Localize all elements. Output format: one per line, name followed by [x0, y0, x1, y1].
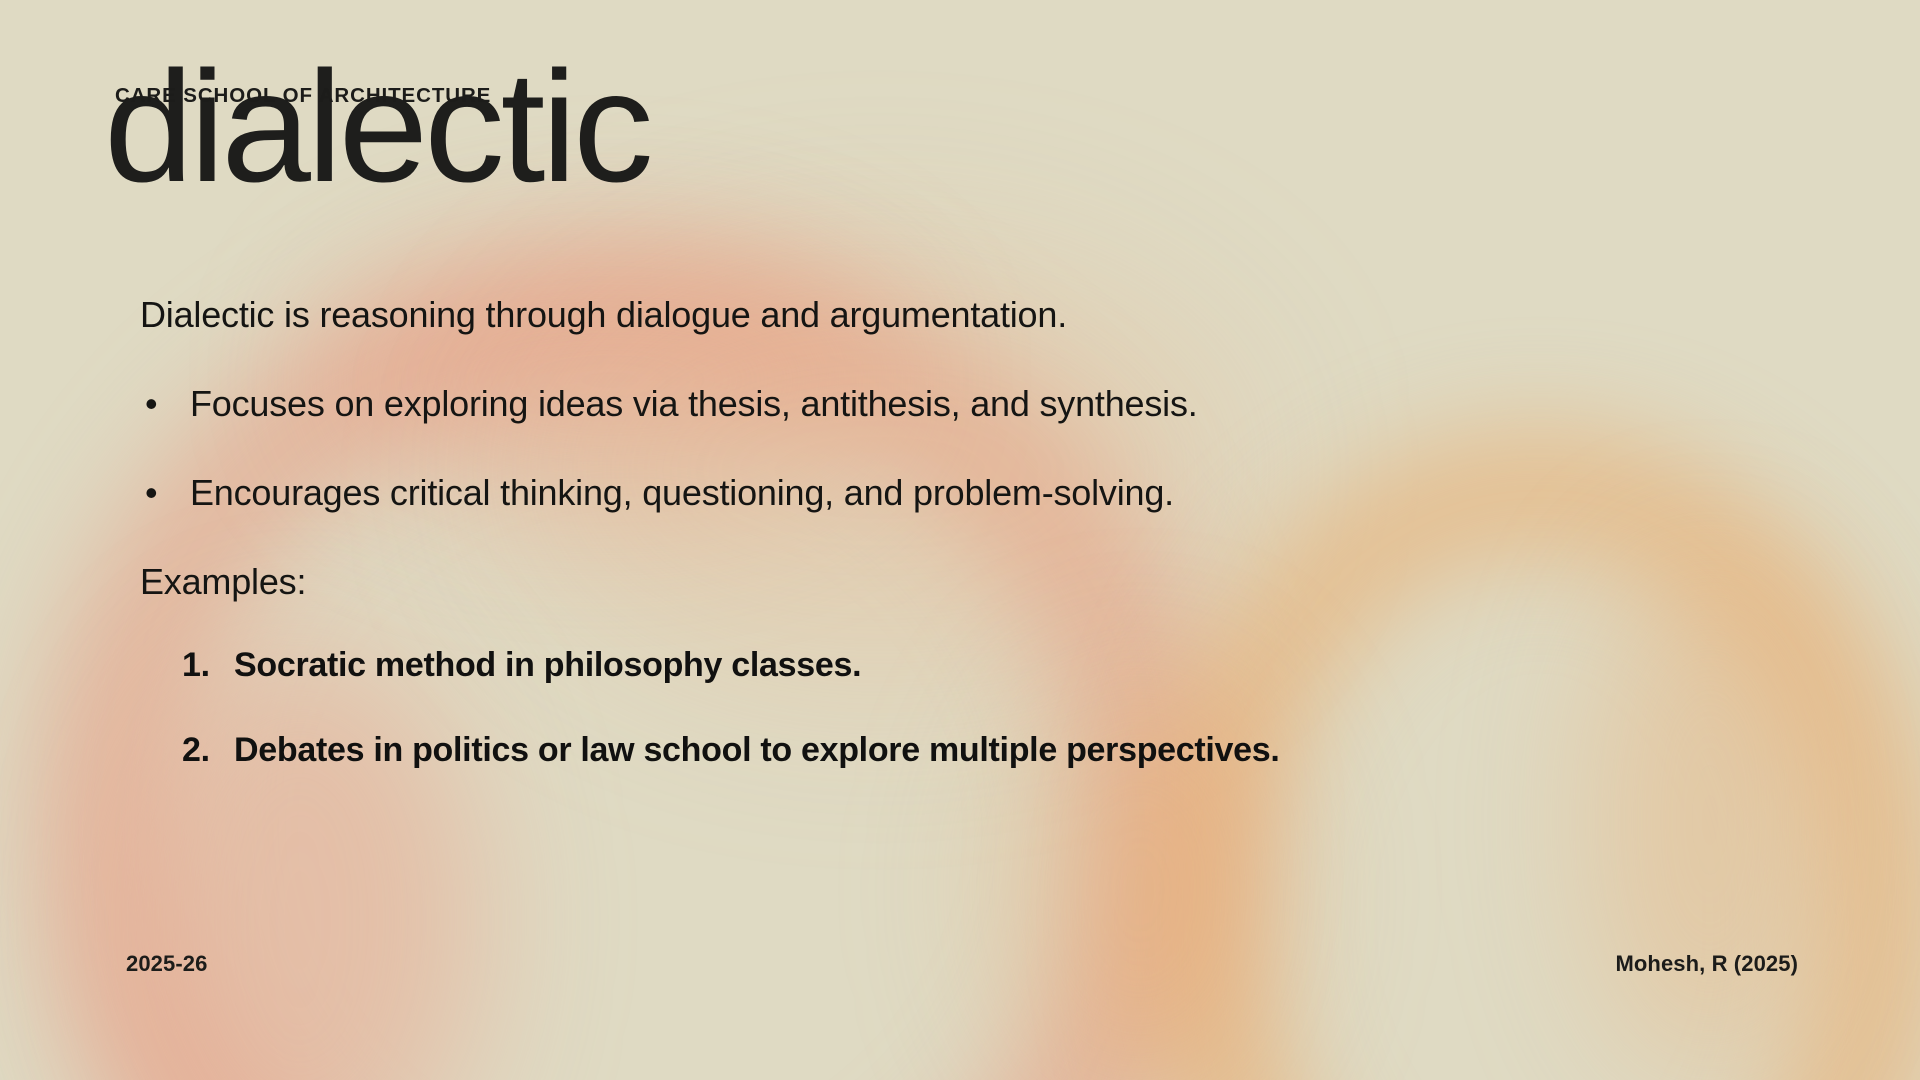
examples-list: 1. Socratic method in philosophy classes… — [140, 644, 1780, 771]
bullet-list: • Focuses on exploring ideas via thesis,… — [140, 381, 1780, 515]
footer-attribution: Mohesh, R (2025) — [1615, 951, 1798, 977]
bullet-marker-icon: • — [145, 470, 157, 515]
bullet-marker-icon: • — [145, 381, 157, 426]
institution-name: CARE SCHOOL OF ARCHITECTURE — [115, 84, 491, 108]
list-number: 1. — [182, 644, 210, 687]
footer-academic-year: 2025-26 — [126, 951, 207, 977]
list-item: • Focuses on exploring ideas via thesis,… — [140, 381, 1780, 426]
list-item: 1. Socratic method in philosophy classes… — [182, 644, 1780, 687]
example-text: Debates in politics or law school to exp… — [234, 731, 1280, 769]
examples-heading: Examples: — [140, 559, 1780, 604]
example-text: Socratic method in philosophy classes. — [234, 646, 861, 684]
list-item: • Encourages critical thinking, question… — [140, 470, 1780, 515]
bullet-text: Encourages critical thinking, questionin… — [190, 472, 1174, 513]
presentation-slide: dialectic CARE SCHOOL OF ARCHITECTURE Di… — [0, 0, 1920, 1080]
list-item: 2. Debates in politics or law school to … — [182, 729, 1780, 772]
list-number: 2. — [182, 729, 210, 772]
slide-content: Dialectic is reasoning through dialogue … — [140, 292, 1780, 813]
lead-paragraph: Dialectic is reasoning through dialogue … — [140, 292, 1780, 337]
brand-wordmark: dialectic — [104, 48, 650, 206]
masthead: dialectic CARE SCHOOL OF ARCHITECTURE — [112, 66, 1012, 216]
bullet-text: Focuses on exploring ideas via thesis, a… — [190, 383, 1198, 424]
